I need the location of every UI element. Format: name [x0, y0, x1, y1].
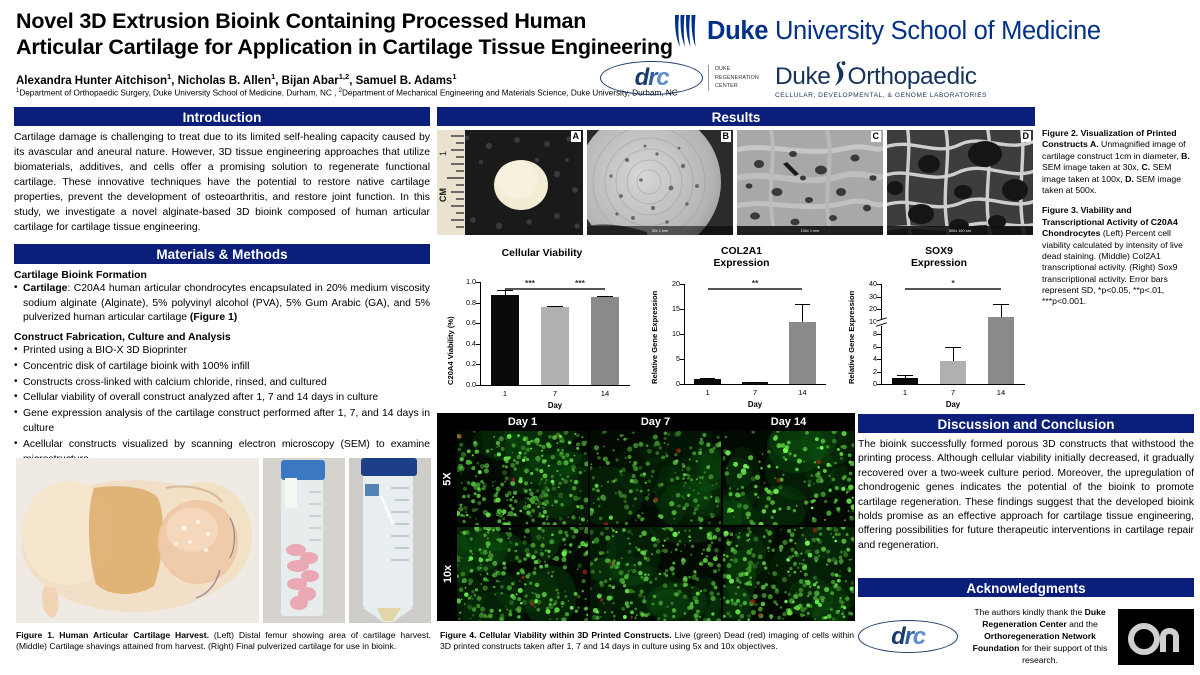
- chart-title-viability: Cellular Viability: [440, 246, 644, 260]
- discussion-section: Discussion and Conclusion The bioink suc…: [858, 414, 1194, 553]
- error-cap-1: [700, 378, 715, 379]
- figure4-caption: Figure 4. Cellular Viability within 3D P…: [440, 630, 854, 653]
- chart-col2a1: COL2A1 Expression 05101520Relative Gene …: [644, 246, 839, 411]
- chart-title-sox9-line1: SOX9: [839, 246, 1039, 258]
- figure2-panel-label-a: A: [571, 131, 582, 142]
- significance-line: [905, 288, 1001, 290]
- significance-label: **: [741, 278, 769, 288]
- bar-1: [892, 378, 919, 384]
- partner-logos-row: drc DUKE REGENERATION CENTER Duke: [600, 55, 1195, 101]
- x-tick-label-1: 1: [692, 388, 724, 397]
- methods-fabrication-list: Printed using a BIO-X 3D BioprinterConce…: [14, 344, 430, 467]
- drc-letter-c: c: [656, 64, 668, 92]
- methods-subhead-bioink: Cartilage Bioink Formation: [14, 270, 430, 281]
- error-cap-14: [993, 304, 1008, 305]
- y-tick-mark: [476, 364, 480, 365]
- y-tick-label: 0.2: [454, 359, 476, 368]
- section-header-discussion: Discussion and Conclusion: [858, 414, 1194, 433]
- figure2-panel-label-b: B: [721, 131, 732, 142]
- duke-flame-icon: [672, 14, 698, 48]
- methods-bioink-list: Cartilage: C20A4 human articular chondro…: [14, 282, 430, 326]
- figure2-panel-b: B 30x 1 mm: [587, 130, 733, 235]
- y-tick-mark: [877, 384, 881, 385]
- poster-header: Novel 3D Extrusion Bioink Containing Pro…: [0, 0, 1200, 103]
- error-cap-14: [597, 296, 613, 297]
- figure2-panel-label-c: C: [871, 131, 882, 142]
- x-axis-label: Day: [480, 401, 630, 410]
- poster-canvas: Novel 3D Extrusion Bioink Containing Pro…: [0, 0, 1200, 675]
- error-cap-7: [748, 382, 763, 383]
- figure4-image-10x-day14: [723, 527, 854, 621]
- chart-sox9: SOX9 Expression 0246810203040Relative Ge…: [839, 246, 1039, 411]
- y-tick-mark: [680, 284, 684, 285]
- y-tick-label: 6: [855, 342, 877, 351]
- error-cap-14: [795, 304, 810, 305]
- drc-letter-d: d: [635, 64, 648, 92]
- y-tick-label: 10: [658, 329, 680, 338]
- y-tick-mark: [680, 359, 684, 360]
- duke-rest-text: University School of Medicine: [768, 17, 1101, 45]
- drc-sub-line-3: CENTER: [715, 82, 759, 90]
- y-axis-label: Relative Gene Expression: [847, 291, 856, 384]
- figure2-panel-c: C 100x 1 mm: [737, 130, 883, 235]
- duke-bold-text: Duke: [707, 17, 768, 45]
- section-header-introduction: Introduction: [14, 107, 430, 126]
- y-tick-mark: [476, 344, 480, 345]
- chart-cellular-viability: Cellular Viability 0.00.20.40.60.81.0C20…: [440, 246, 644, 411]
- y-tick-label: 0.6: [454, 318, 476, 327]
- figure1-panel-shavings: [263, 458, 345, 623]
- y-tick-label: 0.8: [454, 298, 476, 307]
- y-tick-mark: [877, 334, 881, 335]
- svg-text:1: 1: [438, 151, 448, 156]
- error-bar-14: [802, 304, 803, 322]
- chart-title-col2a1-line1: COL2A1: [644, 246, 839, 258]
- ortho-duke-text: Duke: [775, 63, 831, 91]
- figure4-panel: Day 1 Day 7 Day 14 5X 10x: [437, 413, 855, 621]
- y-axis-label: C20A4 Viability (%): [446, 316, 455, 385]
- x-axis-line: [480, 385, 630, 386]
- duke-ortho-wordmark: Duke Orthopaedic: [775, 58, 987, 91]
- bar-1: [694, 379, 721, 384]
- y-tick-label: 0: [855, 379, 877, 388]
- bar-14: [988, 317, 1015, 384]
- drc-sub-line-1: DUKE: [715, 65, 759, 73]
- figure2-scalebar-c: 100x 1 mm: [737, 226, 883, 235]
- y-tick-label: 0.0: [454, 380, 476, 389]
- bar-1: [491, 295, 519, 385]
- drc-letters-ack: drc: [858, 620, 958, 653]
- chart-title-sox9: SOX9 Expression: [839, 246, 1039, 269]
- significance-label: ***: [566, 278, 594, 288]
- drc-logo: drc: [600, 56, 705, 100]
- y-tick-mark: [877, 347, 881, 348]
- drc-letters: drc: [600, 61, 703, 95]
- x-tick-label-1: 1: [889, 388, 921, 397]
- y-tick-label: 10: [855, 317, 877, 326]
- methods-bullet: Cellular viability of overall construct …: [14, 391, 430, 406]
- drc-ack-letter-d: d: [891, 623, 904, 651]
- figure1-panel-femur: [16, 458, 259, 623]
- chart-title-col2a1-line2: Expression: [644, 258, 839, 270]
- figure4-col-header-day1: Day 1: [457, 415, 588, 429]
- x-axis-label: Day: [881, 400, 1025, 409]
- section-header-materials-methods: Materials & Methods: [14, 244, 430, 264]
- y-tick-label: 2: [855, 367, 877, 376]
- y-tick-label: 20: [855, 304, 877, 313]
- methods-bullet: Constructs cross-linked with calcium chl…: [14, 376, 430, 391]
- figure1-images: [16, 458, 431, 623]
- y-tick-label: 40: [855, 279, 877, 288]
- duke-wordmark: Duke University School of Medicine: [707, 17, 1101, 46]
- significance-label: ***: [516, 278, 544, 288]
- figure4-image-10x-day1: [457, 527, 588, 621]
- y-tick-label: 5: [658, 354, 680, 363]
- figure4-image-5x-day1: [457, 431, 588, 525]
- y-tick-label: 0: [658, 379, 680, 388]
- error-cap-7: [547, 306, 563, 307]
- drc-sub-line-2: REGENERATION: [715, 74, 759, 82]
- drc-letter-r: r: [648, 64, 656, 92]
- y-tick-mark: [877, 309, 881, 310]
- y-tick-label: 1.0: [454, 277, 476, 286]
- ortho-subtitle: CELLULAR, DEVELOPMENTAL, & GENOME LABORA…: [775, 92, 987, 99]
- error-cap-1: [497, 290, 513, 291]
- logo-divider: [708, 65, 709, 91]
- plot-area-col2a1: 05101520Relative Gene Expression1714Day*…: [644, 272, 839, 411]
- y-tick-mark: [476, 385, 480, 386]
- bar-7: [940, 361, 967, 384]
- methods-bullet-cartilage: Cartilage: C20A4 human articular chondro…: [14, 282, 430, 326]
- y-tick-mark: [680, 309, 684, 310]
- y-tick-label: 0.4: [454, 339, 476, 348]
- figure2-caption: Figure 2. Visualization of Printed Const…: [1042, 128, 1194, 196]
- orthoregeneration-network-logo: [1118, 609, 1194, 665]
- error-cap-1: [897, 375, 912, 376]
- y-tick-mark: [877, 284, 881, 285]
- left-column: Introduction Cartilage damage is challen…: [14, 107, 430, 467]
- figure4-image-5x-day7: [590, 431, 721, 525]
- plot-area-sox9: 0246810203040Relative Gene Expression171…: [839, 272, 1039, 411]
- figure3-caption: Figure 3. Viability and Transcriptional …: [1042, 205, 1194, 308]
- y-tick-mark: [680, 384, 684, 385]
- introduction-body: Cartilage damage is challenging to treat…: [14, 131, 430, 236]
- acknowledgments-text: The authors kindly thank the Duke Regene…: [962, 607, 1118, 666]
- figure2-panel-a: 1 CM A: [437, 130, 583, 235]
- chart-title-sox9-line2: Expression: [839, 258, 1039, 270]
- bar-7: [541, 307, 569, 385]
- methods-bullet: Concentric disk of cartilage bioink with…: [14, 360, 430, 375]
- significance-line: [708, 288, 803, 290]
- figure4-row-header-5x: 5X: [439, 431, 456, 527]
- bar-14: [789, 322, 816, 385]
- figure4-col-header-day7: Day 7: [590, 415, 721, 429]
- drc-subtitle: DUKE REGENERATION CENTER: [715, 65, 759, 90]
- ortho-swirl-icon: [831, 61, 848, 87]
- significance-line: [505, 288, 555, 290]
- y-axis-line: [881, 284, 882, 384]
- figure2-panel-d: D 500x 100 um: [887, 130, 1033, 235]
- acknowledgments-section: Acknowledgments drc The authors kindly t…: [858, 578, 1194, 672]
- figure4-image-10x-day7: [590, 527, 721, 621]
- bar-14: [591, 297, 619, 385]
- x-tick-label-7: 7: [739, 388, 771, 397]
- y-tick-label: 8: [855, 329, 877, 338]
- section-header-results: Results: [437, 107, 1035, 126]
- y-tick-mark: [877, 359, 881, 360]
- drc-ack-letter-c: c: [913, 623, 925, 651]
- svg-text:CM: CM: [438, 188, 448, 202]
- page-title: Novel 3D Extrusion Bioink Containing Pro…: [16, 8, 676, 60]
- discussion-body: The bioink successfully formed porous 3D…: [858, 438, 1194, 553]
- duke-som-logo: Duke University School of Medicine: [672, 14, 1101, 48]
- figure2-scalebar-b: 30x 1 mm: [587, 226, 733, 235]
- x-tick-label-14: 14: [985, 388, 1017, 397]
- figure3-charts: Cellular Viability 0.00.20.40.60.81.0C20…: [440, 246, 1040, 411]
- figure2-scalebar-d: 500x 100 um: [887, 226, 1033, 235]
- figure2-panel-label-d: D: [1021, 131, 1032, 142]
- drc-ack-letter-r: r: [905, 623, 913, 651]
- figure2-image-row: 1 CM A: [437, 130, 1035, 235]
- figure4-row-header-10x: 10x: [439, 527, 456, 621]
- methods-bullet: Gene expression analysis of the cartilag…: [14, 407, 430, 437]
- y-tick-label: 30: [855, 292, 877, 301]
- significance-label: *: [939, 278, 967, 288]
- plot-area-viability: 0.00.20.40.60.81.0C20A4 Viability (%)171…: [440, 266, 644, 411]
- acknowledgments-body: drc The authors kindly thank the Duke Re…: [858, 602, 1194, 672]
- y-tick-mark: [476, 323, 480, 324]
- x-axis-line: [684, 384, 826, 385]
- figure4-image-5x-day14: [723, 431, 854, 525]
- x-tick-label-14: 14: [589, 389, 621, 398]
- error-bar-7: [953, 347, 954, 361]
- duke-orthopaedic-logo: Duke Orthopaedic CELLULAR, DEVELOPMENTAL…: [775, 58, 987, 99]
- x-tick-label-7: 7: [539, 389, 571, 398]
- y-axis-label: Relative Gene Expression: [650, 291, 659, 384]
- chart-title-col2a1: COL2A1 Expression: [644, 246, 839, 269]
- error-bar-14: [1001, 304, 1002, 317]
- x-tick-label-1: 1: [489, 389, 521, 398]
- y-axis-line: [480, 282, 481, 385]
- x-tick-label-14: 14: [786, 388, 818, 397]
- y-tick-mark: [877, 372, 881, 373]
- figure4-col-header-day14: Day 14: [723, 415, 854, 429]
- significance-line: [555, 288, 605, 290]
- y-tick-mark: [476, 282, 480, 283]
- methods-subhead-fabrication: Construct Fabrication, Culture and Analy…: [14, 332, 430, 343]
- x-tick-label-7: 7: [937, 388, 969, 397]
- right-column-captions: Figure 2. Visualization of Printed Const…: [1042, 128, 1194, 308]
- ortho-word-text: Orthopaedic: [848, 63, 977, 91]
- y-tick-mark: [680, 334, 684, 335]
- y-axis-line: [684, 284, 685, 384]
- section-header-acknowledgments: Acknowledgments: [858, 578, 1194, 597]
- y-tick-label: 15: [658, 304, 680, 313]
- y-tick-label: 4: [855, 354, 877, 363]
- methods-bullet: Printed using a BIO-X 3D Bioprinter: [14, 344, 430, 359]
- drc-logo-ack: drc: [858, 612, 962, 662]
- y-tick-mark: [476, 303, 480, 304]
- x-axis-line: [881, 384, 1025, 385]
- y-tick-label: 20: [658, 279, 680, 288]
- x-axis-label: Day: [684, 400, 826, 409]
- figure1-caption: Figure 1. Human Articular Cartilage Harv…: [16, 630, 431, 653]
- y-tick-mark: [877, 297, 881, 298]
- error-cap-7: [945, 347, 960, 348]
